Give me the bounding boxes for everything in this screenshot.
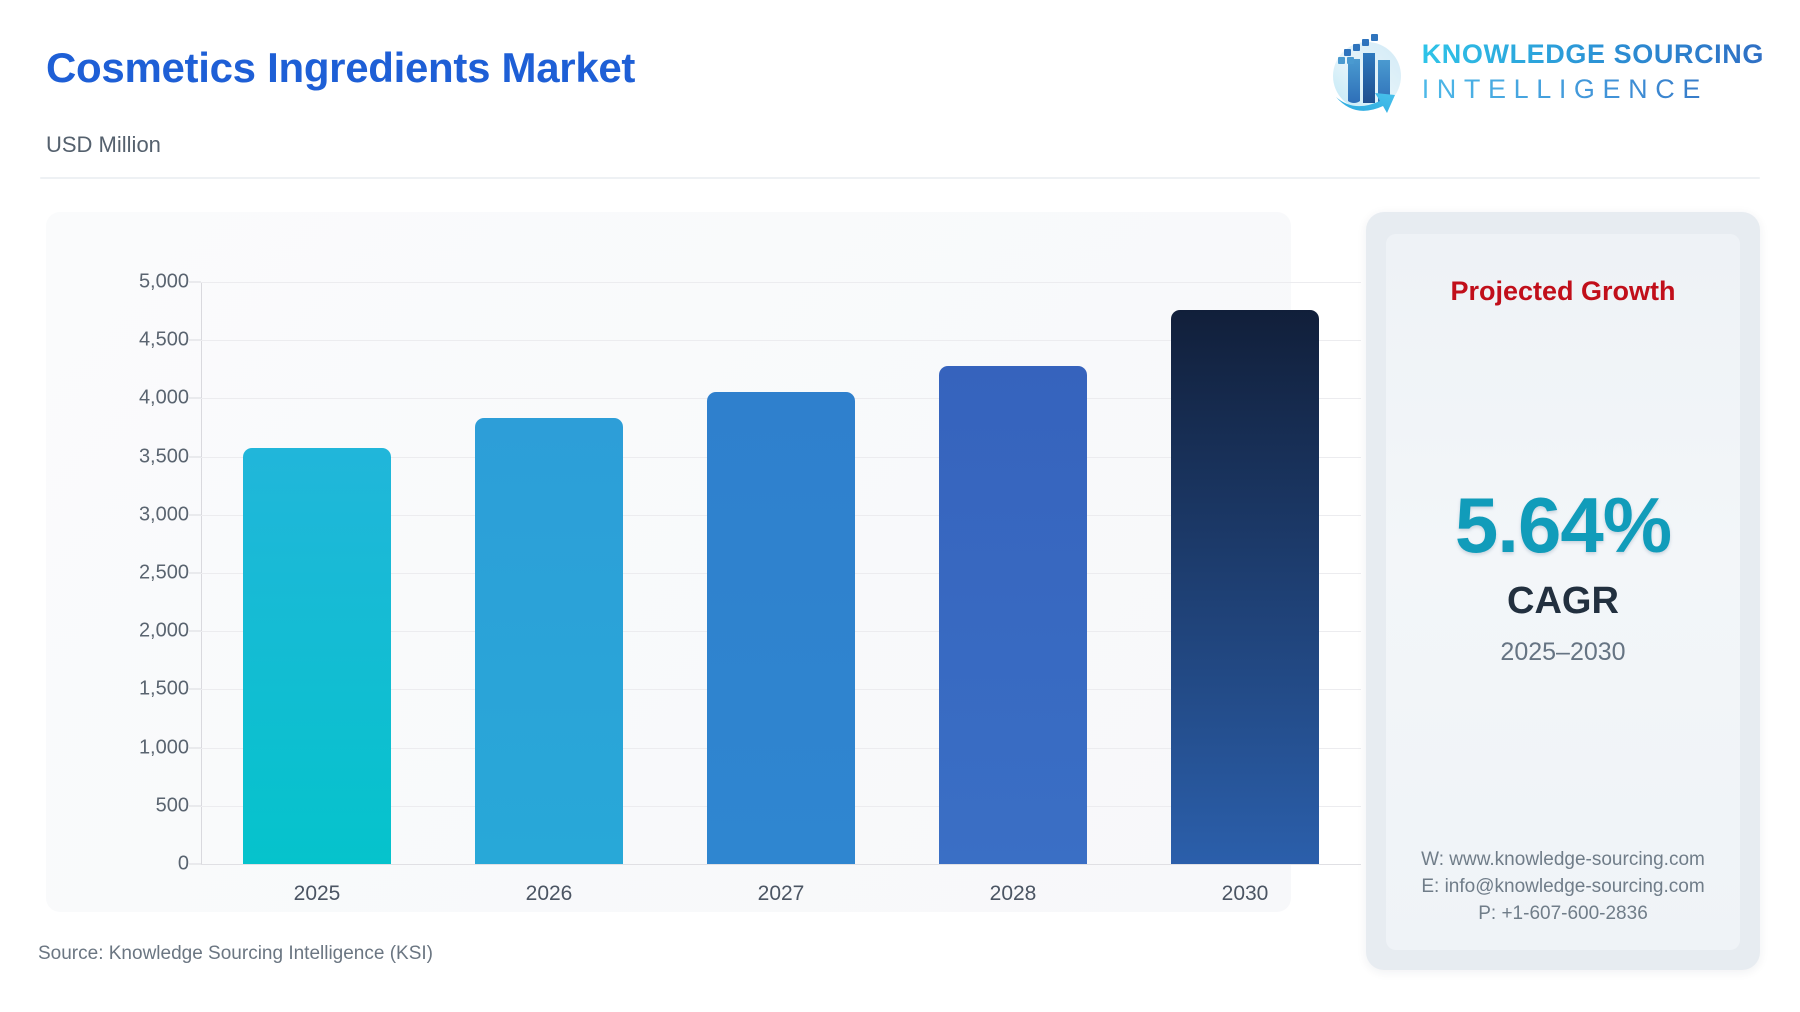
cagr-value: 5.64% (1386, 486, 1740, 564)
y-axis-tick-label: 4,500 (69, 329, 189, 352)
brand-line-intelligence: INTELLIGENCE (1422, 76, 1764, 103)
page-header: Cosmetics Ingredients Market USD Million (0, 0, 1800, 186)
x-axis-label-2030: 2030 (1222, 882, 1269, 906)
y-axis-tick-label: 1,000 (69, 736, 189, 759)
gridline (201, 864, 1361, 865)
projected-growth-card: Projected Growth 5.64% CAGR 2025–2030 W:… (1386, 234, 1740, 950)
chart-card: 05001,0001,5002,0002,5003,0003,5004,0004… (46, 212, 1291, 912)
bar-2027[interactable] (707, 392, 855, 864)
y-axis-tick-label: 2,000 (69, 620, 189, 643)
brand-logo: KNOWLEDGE SOURCING INTELLIGENCE (1322, 24, 1764, 120)
y-axis-tick-label: 1,500 (69, 678, 189, 701)
y-axis-tick-mark (189, 631, 201, 632)
contact-phone[interactable]: P: +1-607-600-2836 (1386, 901, 1740, 928)
y-axis-tick-label: 500 (69, 794, 189, 817)
brand-line-knowledge-sourcing: KNOWLEDGE SOURCING (1422, 41, 1764, 68)
y-axis-tick-mark (189, 282, 201, 283)
y-axis-tick-label: 3,000 (69, 503, 189, 526)
x-axis-label-2025: 2025 (294, 882, 341, 906)
contact-email[interactable]: E: info@knowledge-sourcing.com (1386, 874, 1740, 901)
gridline (201, 282, 1361, 283)
y-axis-tick-mark (189, 514, 201, 515)
y-axis-tick-label: 3,500 (69, 445, 189, 468)
cagr-period: 2025–2030 (1386, 640, 1740, 665)
page-subtitle-units: USD Million (46, 132, 161, 158)
bar-2025[interactable] (243, 448, 391, 864)
source-note: Source: Knowledge Sourcing Intelligence … (38, 943, 433, 965)
panel-title: Projected Growth (1386, 276, 1740, 307)
y-axis-tick-label: 5,000 (69, 271, 189, 294)
y-axis-tick-mark (189, 340, 201, 341)
y-axis-tick-mark (189, 398, 201, 399)
contact-block: W: www.knowledge-sourcing.com E: info@kn… (1386, 847, 1740, 928)
contact-website[interactable]: W: www.knowledge-sourcing.com (1386, 847, 1740, 874)
y-axis-tick-mark (189, 456, 201, 457)
y-axis-tick-mark (189, 864, 201, 865)
knowledge-sourcing-logo-mark-icon (1322, 29, 1408, 115)
x-axis-label-2027: 2027 (758, 882, 805, 906)
cagr-label: CAGR (1386, 582, 1740, 620)
y-axis-tick-mark (189, 573, 201, 574)
x-axis-label-2026: 2026 (526, 882, 573, 906)
y-axis-tick-label: 2,500 (69, 562, 189, 585)
brand-wordmark: KNOWLEDGE SOURCING INTELLIGENCE (1422, 41, 1764, 103)
y-axis-tick-label: 4,000 (69, 387, 189, 410)
header-divider (40, 177, 1760, 179)
bar-chart-plot-area: 05001,0001,5002,0002,5003,0003,5004,0004… (201, 282, 1361, 864)
page-title: Cosmetics Ingredients Market (46, 44, 635, 92)
bar-2030[interactable] (1171, 310, 1319, 864)
x-axis-label-2028: 2028 (990, 882, 1037, 906)
bar-2026[interactable] (475, 418, 623, 864)
y-axis-tick-mark (189, 747, 201, 748)
projected-growth-panel: Projected Growth 5.64% CAGR 2025–2030 W:… (1366, 212, 1760, 970)
y-axis-tick-label: 0 (69, 853, 189, 876)
y-axis-tick-mark (189, 689, 201, 690)
bar-2028[interactable] (939, 366, 1087, 864)
y-axis-tick-mark (189, 805, 201, 806)
